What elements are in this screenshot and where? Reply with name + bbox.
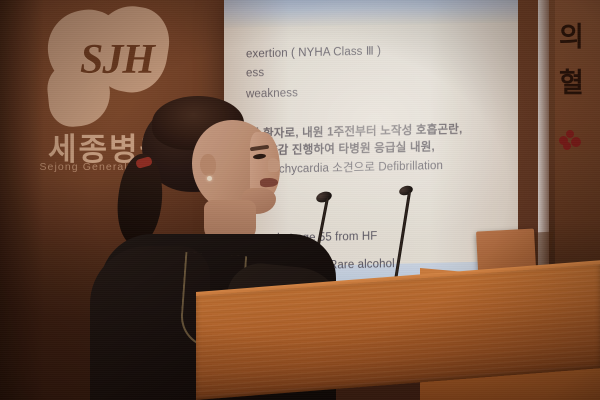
nose	[268, 158, 280, 172]
microphone-capsule-icon	[398, 184, 414, 197]
logo-monogram: SJH	[80, 36, 190, 84]
presentation-photo: SJH 세종병원 Sejong General Hospital exertio…	[0, 0, 600, 400]
slide-line-2: ess	[246, 67, 264, 79]
earring	[207, 176, 212, 181]
ear	[200, 154, 216, 176]
slide-line-1: exertion ( NYHA Class Ⅲ )	[246, 43, 381, 60]
